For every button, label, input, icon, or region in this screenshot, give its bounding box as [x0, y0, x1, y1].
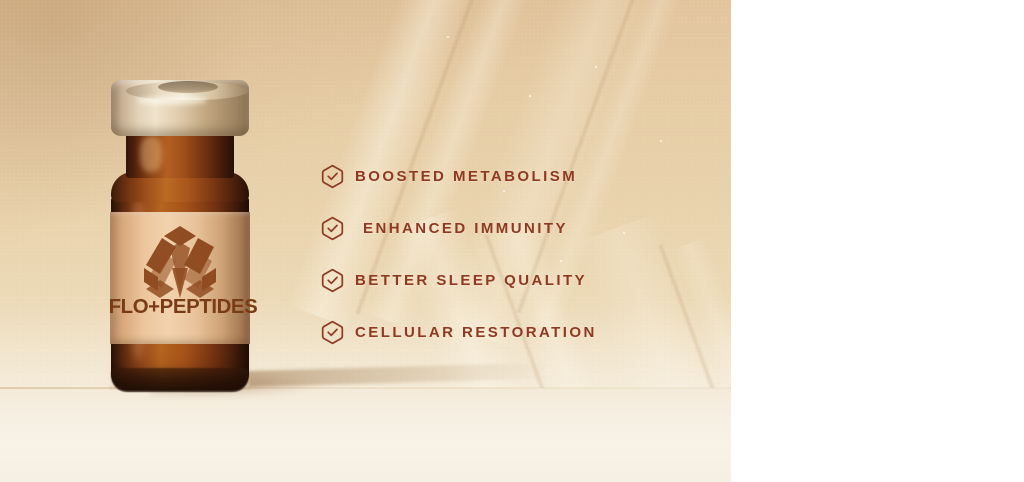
sparkle-dot	[447, 36, 449, 38]
sparkle-dot	[529, 95, 531, 97]
benefit-label: ENHANCED IMMUNITY	[363, 220, 568, 237]
hexagon-chevron-logo	[110, 212, 250, 344]
table-surface	[0, 388, 731, 482]
sparkle-dot	[660, 140, 662, 142]
sparkle-dot	[595, 66, 597, 68]
vial-neck-highlight	[140, 136, 162, 172]
vial-label: FLO+PEPTIDES	[110, 212, 250, 344]
benefit-label: CELLULAR RESTORATION	[355, 324, 597, 341]
cap-center-disc	[158, 81, 218, 93]
benefit-label: BETTER SLEEP QUALITY	[355, 272, 587, 289]
benefits-list: BOOSTED METABOLISM ENHANCED IMMUNITY	[320, 150, 650, 358]
vial-label-brand: FLO+PEPTIDES	[109, 296, 252, 319]
vial-crimp-cap	[111, 80, 249, 136]
benefit-item-better-sleep-quality: BETTER SLEEP QUALITY	[320, 254, 650, 306]
hexagon-check-icon	[320, 164, 345, 189]
product-photo-canvas: FLO+PEPTIDES	[0, 0, 731, 482]
hexagon-check-icon	[320, 216, 345, 241]
screenshot-stage: FLO+PEPTIDES	[0, 0, 1024, 482]
product-vial: FLO+PEPTIDES	[104, 72, 254, 392]
cap-highlight	[137, 96, 207, 105]
benefit-item-enhanced-immunity: ENHANCED IMMUNITY	[320, 202, 650, 254]
benefit-item-boosted-metabolism: BOOSTED METABOLISM	[320, 150, 650, 202]
vial-base	[111, 368, 249, 392]
right-white-area	[731, 0, 1024, 482]
hexagon-check-icon	[320, 268, 345, 293]
hexagon-check-icon	[320, 320, 345, 345]
benefit-label: BOOSTED METABOLISM	[355, 168, 577, 185]
benefit-item-cellular-restoration: CELLULAR RESTORATION	[320, 306, 650, 358]
vial-cast-shadow	[248, 363, 548, 387]
